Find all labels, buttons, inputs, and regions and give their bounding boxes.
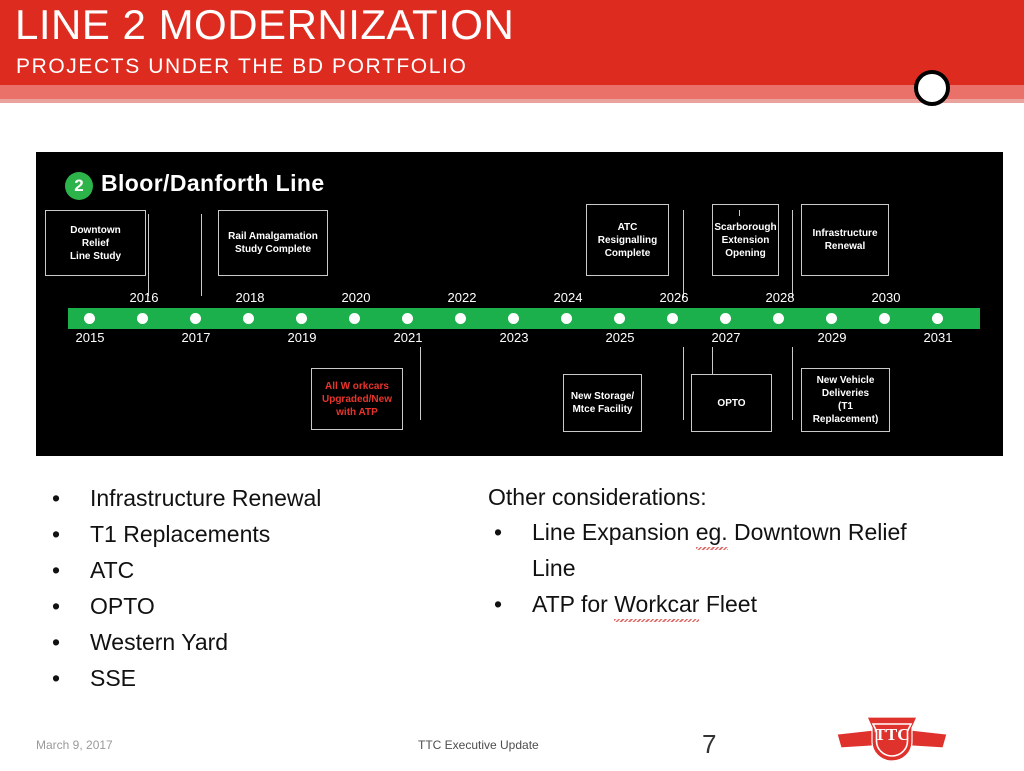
milestone-label: ATCResignallingComplete bbox=[598, 221, 657, 260]
list-item: • SSE bbox=[46, 660, 466, 696]
timeline-bar bbox=[68, 308, 980, 329]
list-item: • Line Expansion eg. Downtown Relief Lin… bbox=[488, 514, 948, 586]
year-label-2018: 2018 bbox=[222, 290, 278, 305]
year-label-2029: 2029 bbox=[804, 330, 860, 345]
year-label-2017: 2017 bbox=[168, 330, 224, 345]
bullet-glyph: • bbox=[488, 514, 532, 586]
connector-line bbox=[739, 210, 740, 216]
bullet-glyph: • bbox=[46, 516, 90, 552]
timeline-dot bbox=[773, 313, 784, 324]
year-label-2026: 2026 bbox=[646, 290, 702, 305]
timeline-panel: 2 Bloor/Danforth Line DowntownReliefLine… bbox=[36, 152, 1003, 456]
timeline-dot bbox=[349, 313, 360, 324]
list-item-label: Line Expansion eg. Downtown Relief Line bbox=[532, 514, 948, 586]
spellcheck-text: eg. bbox=[696, 514, 728, 550]
milestone-box-new-vehicle-deliveries: New VehicleDeliveries(T1Replacement) bbox=[801, 368, 890, 432]
page-title: LINE 2 MODERNIZATION bbox=[15, 2, 514, 48]
connector-line bbox=[792, 347, 793, 420]
milestone-box-all-workcars-atp: All W orkcarsUpgraded/Newwith ATP bbox=[311, 368, 403, 430]
bullet-glyph: • bbox=[46, 552, 90, 588]
connector-line bbox=[792, 210, 793, 298]
list-item: • Infrastructure Renewal bbox=[46, 480, 466, 516]
milestone-box-new-storage-mtce-facility: New Storage/Mtce Facility bbox=[563, 374, 642, 432]
year-label-2023: 2023 bbox=[486, 330, 542, 345]
year-label-2019: 2019 bbox=[274, 330, 330, 345]
footer-date: March 9, 2017 bbox=[36, 738, 113, 752]
milestone-label: New VehicleDeliveries(T1Replacement) bbox=[813, 374, 879, 426]
year-label-2016: 2016 bbox=[116, 290, 172, 305]
connector-line bbox=[201, 214, 202, 296]
header-stripe bbox=[0, 85, 1024, 99]
list-item-label: ATP for Workcar Fleet bbox=[532, 586, 948, 622]
milestone-box-opto: OPTO bbox=[691, 374, 772, 432]
milestone-label: New Storage/Mtce Facility bbox=[571, 390, 634, 416]
list-item-label: T1 Replacements bbox=[90, 516, 466, 552]
milestone-box-downtown-relief-line-study: DowntownReliefLine Study bbox=[45, 210, 146, 276]
timeline-dot bbox=[402, 313, 413, 324]
year-label-2031: 2031 bbox=[910, 330, 966, 345]
timeline-dot bbox=[879, 313, 890, 324]
circle-marker-icon bbox=[914, 70, 950, 106]
other-considerations-heading: Other considerations: bbox=[488, 480, 948, 514]
list-item: • T1 Replacements bbox=[46, 516, 466, 552]
timeline-dot bbox=[508, 313, 519, 324]
year-label-2021: 2021 bbox=[380, 330, 436, 345]
timeline-dot bbox=[455, 313, 466, 324]
timeline-dot bbox=[667, 313, 678, 324]
list-item-label: SSE bbox=[90, 660, 466, 696]
timeline-dot bbox=[137, 313, 148, 324]
timeline-dot bbox=[296, 313, 307, 324]
milestone-label: Rail AmalgamationStudy Complete bbox=[228, 230, 318, 256]
milestone-label: All W orkcarsUpgraded/Newwith ATP bbox=[322, 380, 392, 419]
connector-line bbox=[148, 214, 149, 296]
bullet-glyph: • bbox=[46, 624, 90, 660]
bullet-glyph: • bbox=[46, 660, 90, 696]
list-item-label: ATC bbox=[90, 552, 466, 588]
year-label-2015: 2015 bbox=[62, 330, 118, 345]
milestone-label: OPTO bbox=[717, 397, 745, 410]
milestone-label: InfrastructureRenewal bbox=[812, 227, 877, 253]
list-item-label: Western Yard bbox=[90, 624, 466, 660]
year-label-2030: 2030 bbox=[858, 290, 914, 305]
year-label-2022: 2022 bbox=[434, 290, 490, 305]
list-item: • Western Yard bbox=[46, 624, 466, 660]
milestone-label: DowntownReliefLine Study bbox=[70, 224, 121, 263]
text-post: Fleet bbox=[699, 591, 757, 617]
header-stripe-lower bbox=[0, 99, 1024, 103]
timeline-dot bbox=[932, 313, 943, 324]
page-subtitle: PROJECTS UNDER THE BD PORTFOLIO bbox=[16, 55, 467, 79]
bullet-glyph: • bbox=[46, 588, 90, 624]
timeline-dot bbox=[720, 313, 731, 324]
spellcheck-text: Workcar bbox=[614, 586, 699, 622]
list-item: • OPTO bbox=[46, 588, 466, 624]
milestone-box-rail-amalgamation: Rail AmalgamationStudy Complete bbox=[218, 210, 328, 276]
line-title: Bloor/Danforth Line bbox=[101, 170, 325, 197]
milestone-box-scarborough-extension: ScarboroughExtensionOpening bbox=[712, 204, 779, 276]
year-label-2028: 2028 bbox=[752, 290, 808, 305]
right-bullet-list: Other considerations: • Line Expansion e… bbox=[488, 480, 948, 622]
left-bullet-list: • Infrastructure Renewal • T1 Replacemen… bbox=[46, 480, 466, 696]
year-label-2024: 2024 bbox=[540, 290, 596, 305]
list-item: • ATP for Workcar Fleet bbox=[488, 586, 948, 622]
timeline-dot bbox=[561, 313, 572, 324]
list-item-label: OPTO bbox=[90, 588, 466, 624]
bullet-glyph: • bbox=[46, 480, 90, 516]
timeline-dot bbox=[243, 313, 254, 324]
connector-line bbox=[683, 347, 684, 420]
timeline-dot bbox=[190, 313, 201, 324]
text-pre: Line Expansion bbox=[532, 519, 696, 545]
year-label-2020: 2020 bbox=[328, 290, 384, 305]
connector-line bbox=[420, 347, 421, 420]
svg-text:TTC: TTC bbox=[875, 725, 910, 744]
timeline-dot bbox=[826, 313, 837, 324]
list-item-label: Infrastructure Renewal bbox=[90, 480, 466, 516]
year-label-2027: 2027 bbox=[698, 330, 754, 345]
year-label-2025: 2025 bbox=[592, 330, 648, 345]
text-pre: ATP for bbox=[532, 591, 614, 617]
ttc-logo: TTC bbox=[833, 714, 951, 762]
bullet-glyph: • bbox=[488, 586, 532, 622]
timeline-dot bbox=[84, 313, 95, 324]
timeline-dot bbox=[614, 313, 625, 324]
connector-line bbox=[683, 210, 684, 298]
page-number: 7 bbox=[702, 729, 716, 760]
list-item: • ATC bbox=[46, 552, 466, 588]
milestone-box-atc-resignalling: ATCResignallingComplete bbox=[586, 204, 669, 276]
milestone-box-infrastructure-renewal: InfrastructureRenewal bbox=[801, 204, 889, 276]
line-number-badge: 2 bbox=[65, 172, 93, 200]
milestone-label: ScarboroughExtensionOpening bbox=[714, 221, 776, 260]
footer-center-text: TTC Executive Update bbox=[418, 738, 539, 752]
